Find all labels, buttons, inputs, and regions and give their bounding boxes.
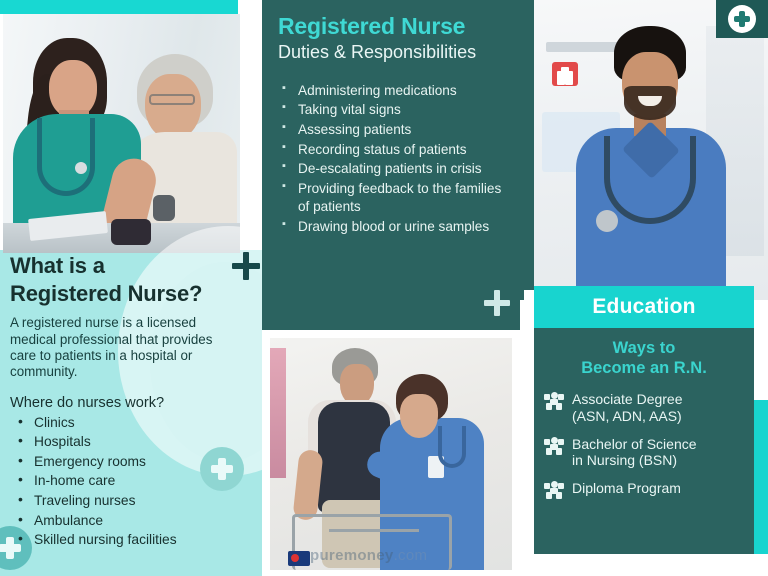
first-aid-box-icon <box>552 62 578 86</box>
page-title: What is a Registered Nurse? <box>10 252 260 308</box>
nurse-figure-icon <box>544 437 564 455</box>
elderly-patient-face <box>145 74 201 140</box>
list-item: De-escalating patients in crisis <box>278 160 504 179</box>
duties-panel: Registered Nurse Duties & Responsibiliti… <box>262 0 520 330</box>
list-item: Ambulance <box>10 511 260 531</box>
pathway-line1: Diploma Program <box>572 480 681 496</box>
education-header-label: Education <box>592 295 695 319</box>
pathway-line2: in Nursing (BSN) <box>572 452 677 468</box>
ways-heading-line2: Become an R.N. <box>581 359 707 377</box>
nurse-face <box>400 394 438 438</box>
education-header: Education <box>534 286 754 328</box>
education-pathways-list: Associate Degree (ASN, ADN, AAS) Bachelo… <box>534 391 754 497</box>
nurse-figure-icon <box>544 481 564 499</box>
list-item: Recording status of patients <box>278 141 504 160</box>
duties-panel-title: Registered Nurse <box>278 14 504 39</box>
watermark-suffix: .com <box>394 547 428 564</box>
list-item: Associate Degree (ASN, ADN, AAS) <box>542 391 746 425</box>
duties-list: Administering medications Taking vital s… <box>278 82 504 237</box>
list-item: Providing feedback to the families of pa… <box>278 180 504 217</box>
list-item: In-home care <box>10 471 260 491</box>
photo-male-nurse <box>534 0 768 300</box>
list-item: Diploma Program <box>542 480 746 497</box>
photo-nurse-with-elderly-patient <box>3 14 240 253</box>
ways-heading: Ways to Become an R.N. <box>534 338 754 379</box>
rn-description: A registered nurse is a licensed medical… <box>10 315 242 380</box>
left-column: What is a Registered Nurse? A registered… <box>0 0 262 576</box>
infographic-canvas: What is a Registered Nurse? A registered… <box>0 0 768 576</box>
duties-panel-subtitle: Duties & Responsibilities <box>278 41 504 64</box>
stethoscope-bell-icon <box>596 210 618 232</box>
blood-pressure-cuff <box>111 219 151 245</box>
stethoscope-icon <box>438 426 466 468</box>
list-item: Traveling nurses <box>10 491 260 511</box>
pathway-line1: Associate Degree <box>572 391 683 407</box>
medical-cross-badge-icon <box>716 0 768 38</box>
education-panel: Education Ways to Become an R.N. Associa… <box>534 286 754 554</box>
list-item: Clinics <box>10 413 260 433</box>
center-photo-frame: puremoney.com <box>262 330 520 576</box>
badge-circle <box>728 5 756 33</box>
pathway-line1: Bachelor of Science <box>572 436 697 452</box>
right-accent-strip <box>520 0 534 300</box>
watermark-flag-icon <box>288 551 310 566</box>
list-item: Bachelor of Science in Nursing (BSN) <box>542 436 746 470</box>
photo-nurse-assisting-walker: puremoney.com <box>270 338 512 570</box>
watermark-text: puremoney.com <box>310 547 427 564</box>
list-item: Taking vital signs <box>278 101 504 120</box>
top-accent-bar <box>0 0 238 14</box>
list-item: Administering medications <box>278 82 504 101</box>
bottom-right-white-strip <box>520 554 768 576</box>
list-item: Skilled nursing facilities <box>10 530 260 550</box>
left-text-block: What is a Registered Nurse? A registered… <box>10 252 260 550</box>
wall-sign <box>546 42 618 52</box>
plus-icon <box>232 252 260 280</box>
plus-icon <box>484 290 510 316</box>
page-title-line1: What is a <box>10 253 105 278</box>
work-settings-list: Clinics Hospitals Emergency rooms In-hom… <box>10 413 260 550</box>
where-heading: Where do nurses work? <box>10 395 260 411</box>
page-title-line2: Registered Nurse? <box>10 281 202 306</box>
right-column: Education Ways to Become an R.N. Associa… <box>520 0 768 576</box>
elderly-patient-glasses <box>149 94 195 105</box>
list-item: Hospitals <box>10 432 260 452</box>
cross-icon <box>734 11 750 27</box>
ways-heading-line1: Ways to <box>613 339 676 357</box>
watermark-label: puremoney <box>310 547 394 564</box>
pathway-line2: (ASN, ADN, AAS) <box>572 408 682 424</box>
nurse-figure-icon <box>544 392 564 410</box>
stethoscope-bell-icon <box>75 162 87 174</box>
list-item: Emergency rooms <box>10 452 260 472</box>
list-item: Drawing blood or urine samples <box>278 218 504 237</box>
list-item: Assessing patients <box>278 121 504 140</box>
stethoscope-icon <box>37 118 95 196</box>
wall-art <box>270 348 286 478</box>
wrist-watch <box>153 195 175 221</box>
stethoscope-icon <box>604 136 696 224</box>
